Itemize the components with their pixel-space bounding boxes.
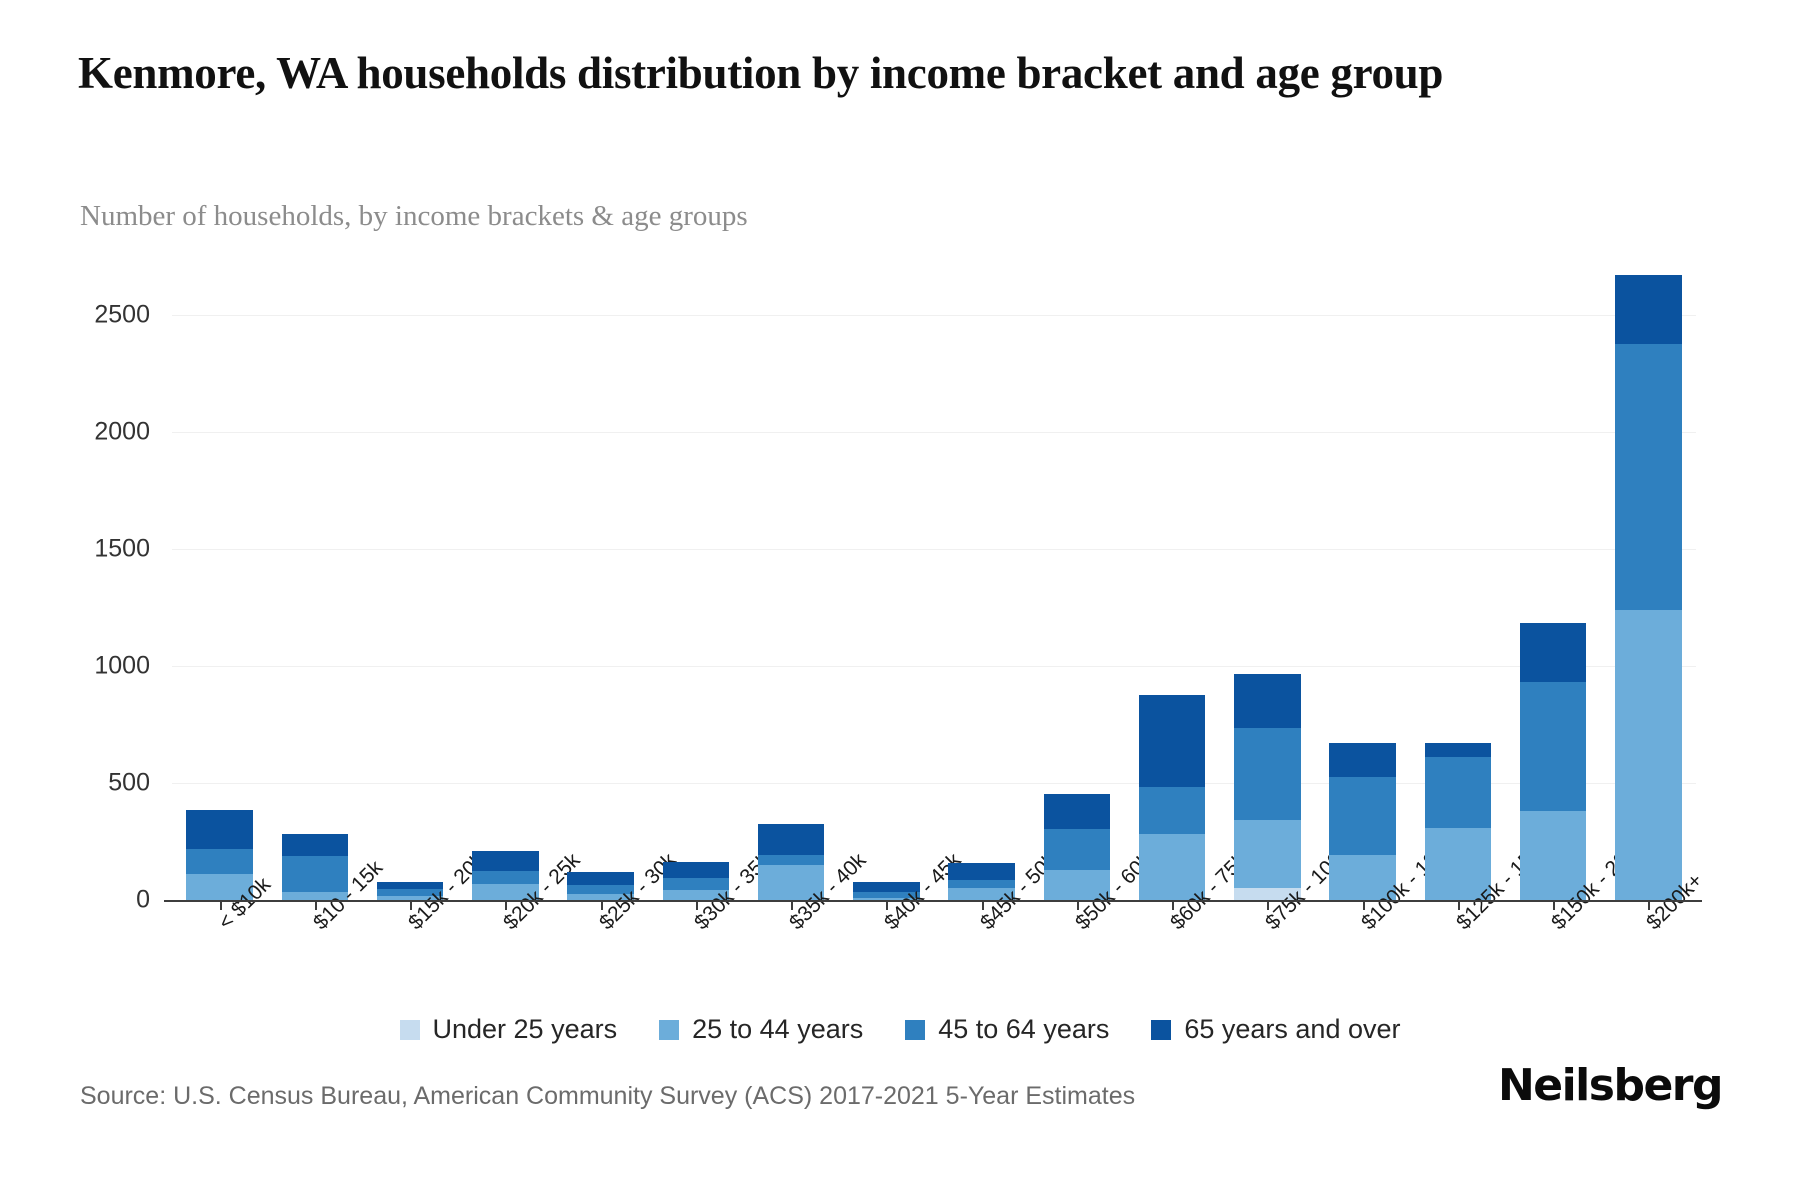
y-axis-labels: 05001000150020002500 [0,268,150,900]
legend-item-label: 25 to 44 years [692,1014,863,1045]
bars-container: < $10k$10 - 15k$15k - 20k$20k - 25k$25k … [172,268,1696,900]
bar-segment[interactable] [1044,829,1111,870]
bar-stack[interactable] [1520,623,1587,900]
legend-item-label: Under 25 years [433,1014,618,1045]
y-axis-tick-label: 1000 [10,651,150,680]
x-axis-line [164,900,1702,902]
bar-segment[interactable] [186,810,253,849]
bar-segment[interactable] [1615,610,1682,900]
legend-swatch-icon [1151,1020,1171,1040]
bar-segment[interactable] [282,834,349,856]
bar-segment[interactable] [948,863,1015,880]
bar-segment[interactable] [186,849,253,873]
brand-logo: Neilsberg [1498,1060,1722,1111]
legend-item-label: 65 years and over [1184,1014,1400,1045]
bar-stack[interactable] [1425,743,1492,900]
y-axis-tick-label: 500 [10,768,150,797]
bar-stack[interactable] [186,810,253,900]
bar-segment[interactable] [663,862,730,878]
bar-segment[interactable] [1615,344,1682,610]
bar-segment[interactable] [758,824,825,855]
y-axis-tick-label: 0 [10,886,150,915]
legend: Under 25 years25 to 44 years45 to 64 yea… [0,1014,1800,1045]
y-axis-tick-label: 2500 [10,300,150,329]
bar-segment[interactable] [1234,674,1301,727]
y-axis-tick-label: 2000 [10,417,150,446]
legend-item[interactable]: 45 to 64 years [905,1014,1109,1045]
bar-stack[interactable] [1615,275,1682,900]
bar-segment[interactable] [1139,787,1206,834]
plot-area: < $10k$10 - 15k$15k - 20k$20k - 25k$25k … [172,268,1696,900]
bar-segment[interactable] [1520,682,1587,811]
bar-segment[interactable] [1425,757,1492,828]
bar-stack[interactable] [1139,695,1206,900]
bar-segment[interactable] [1520,623,1587,682]
y-axis-tick-label: 1500 [10,534,150,563]
legend-swatch-icon [905,1020,925,1040]
legend-item-label: 45 to 64 years [938,1014,1109,1045]
bar-segment[interactable] [1329,743,1396,777]
source-note: Source: U.S. Census Bureau, American Com… [80,1082,1135,1111]
bar-segment[interactable] [758,855,825,865]
bar-segment[interactable] [948,880,1015,888]
legend-item[interactable]: 25 to 44 years [659,1014,863,1045]
bar-segment[interactable] [1329,777,1396,855]
bar-segment[interactable] [567,872,634,885]
bar-stack[interactable] [1329,743,1396,900]
legend-item[interactable]: Under 25 years [400,1014,618,1045]
bar-segment[interactable] [1139,695,1206,787]
bar-segment[interactable] [1425,743,1492,757]
chart-page: Kenmore, WA households distribution by i… [0,0,1800,1200]
bar-segment[interactable] [282,856,349,892]
bar-segment[interactable] [1044,794,1111,828]
legend-item[interactable]: 65 years and over [1151,1014,1400,1045]
bar-stack[interactable] [1234,674,1301,900]
page-title: Kenmore, WA households distribution by i… [78,46,1638,101]
bar-segment[interactable] [1234,728,1301,820]
legend-swatch-icon [400,1020,420,1040]
page-subtitle: Number of households, by income brackets… [80,200,1480,233]
bar-stack[interactable] [1044,794,1111,900]
legend-swatch-icon [659,1020,679,1040]
bar-segment[interactable] [1615,275,1682,344]
bar-segment[interactable] [472,851,539,870]
bar-segment[interactable] [1234,820,1301,888]
bar-segment[interactable] [472,871,539,885]
